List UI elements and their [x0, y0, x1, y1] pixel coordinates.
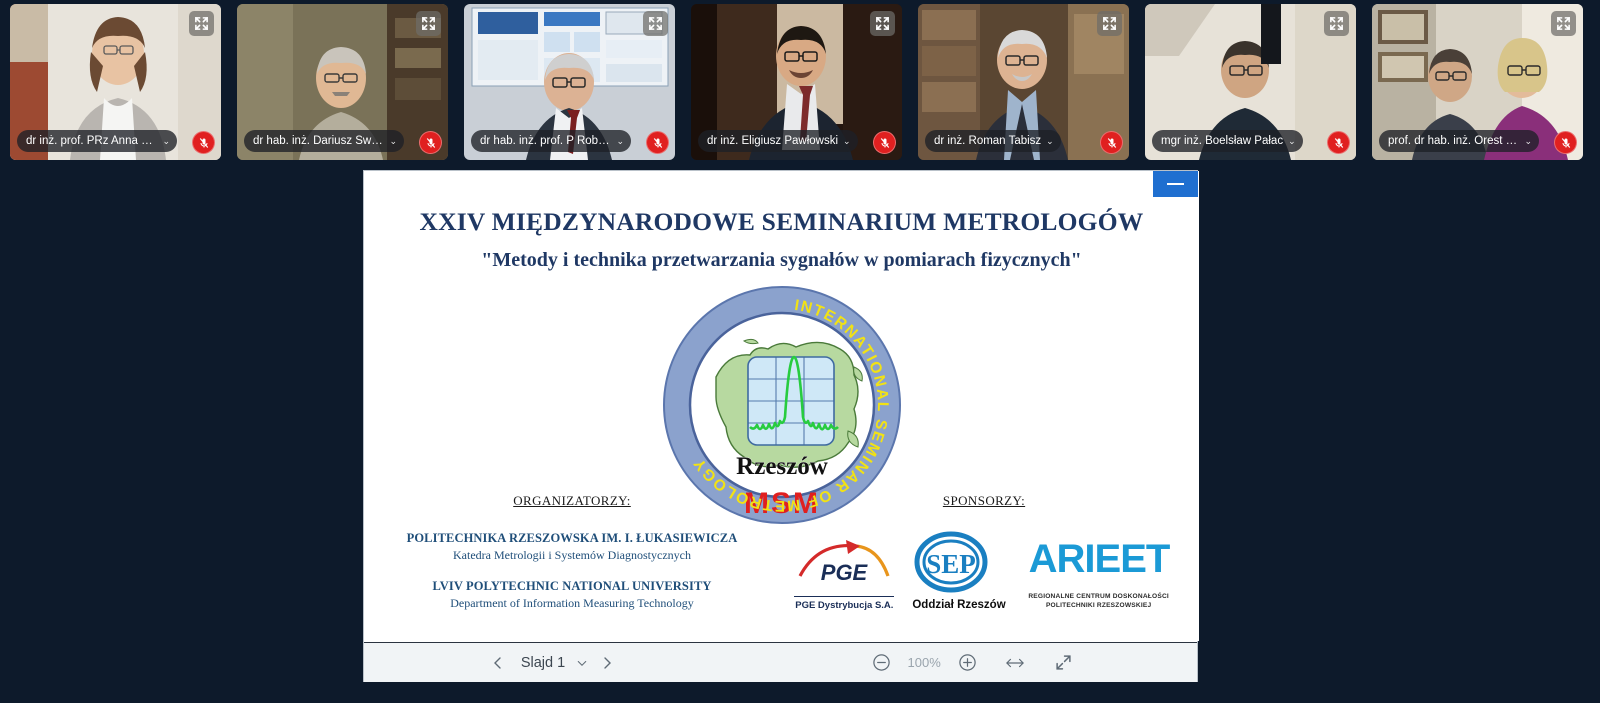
- participant-tile[interactable]: dr inż. Roman Tabisz ⌄: [918, 4, 1129, 160]
- slide-toolbar: Slajd 1 100%: [364, 642, 1197, 682]
- sponsors-heading: SPONSORZY:: [784, 493, 1184, 509]
- slide-canvas[interactable]: XXIV MIĘDZYNARODOWE SEMINARIUM METROLOGÓ…: [364, 171, 1199, 641]
- organizer-dept: Department of Information Measuring Tech…: [392, 596, 752, 611]
- pge-caption: PGE Dystrybucja S.A.: [794, 596, 894, 611]
- participant-name-pill[interactable]: dr hab. inż. Dariusz Świsuls… ⌄: [244, 130, 404, 152]
- expand-icon[interactable]: [189, 11, 214, 36]
- organizer-name: LVIV POLYTECHNIC NATIONAL UNIVERSITY: [392, 579, 752, 594]
- chevron-down-icon[interactable]: ⌄: [1524, 137, 1532, 146]
- mic-muted-icon[interactable]: [1100, 131, 1123, 154]
- participant-tile[interactable]: prof. dr hab. inż. Orest Ivak… ⌄: [1372, 4, 1583, 160]
- ariett-logo: ARIEET REGIONALNE CENTRUM DOSKONAŁOŚCIPO…: [1024, 536, 1174, 611]
- slide-title: XXIV MIĘDZYNARODOWE SEMINARIUM METROLOGÓ…: [364, 207, 1199, 237]
- participant-tile[interactable]: dr inż. Eligiusz Pawłowski ⌄: [691, 4, 902, 160]
- mic-muted-icon[interactable]: [646, 131, 669, 154]
- mic-muted-icon[interactable]: [419, 131, 442, 154]
- sep-caption: Oddział Rzeszów: [912, 599, 1005, 611]
- participant-tile[interactable]: dr hab. inż. prof. P Robert … ⌄: [464, 4, 675, 160]
- slide-number-label: Slajd 1: [517, 655, 569, 671]
- participant-name-pill[interactable]: prof. dr hab. inż. Orest Ivak… ⌄: [1379, 130, 1539, 152]
- fit-width-button[interactable]: [998, 646, 1032, 680]
- msm-emblem: Rzeszów MSM INTERNATIONAL SEMINAR OF MET…: [658, 281, 906, 529]
- chevron-down-icon[interactable]: ⌄: [389, 137, 397, 146]
- sponsors-section: SPONSORZY: PGE PGE Dystrybucja S.A.: [784, 493, 1184, 611]
- participant-name: dr inż. prof. PRz Anna Szlac…: [26, 135, 157, 147]
- expand-icon[interactable]: [1551, 11, 1576, 36]
- chevron-down-icon[interactable]: ⌄: [1288, 137, 1296, 146]
- prev-slide-button[interactable]: [481, 646, 515, 680]
- next-slide-button[interactable]: [590, 646, 624, 680]
- organizers-heading: ORGANIZATORZY:: [392, 493, 752, 509]
- chevron-down-icon[interactable]: ⌄: [843, 137, 851, 146]
- expand-icon[interactable]: [1097, 11, 1122, 36]
- chevron-down-icon: [576, 657, 588, 669]
- participant-name: dr inż. Roman Tabisz: [934, 135, 1041, 147]
- zoom-in-button[interactable]: [950, 646, 984, 680]
- svg-text:ARIEET: ARIEET: [1028, 537, 1169, 581]
- participant-name: mgr inż. Boelsław Pałac: [1161, 135, 1283, 147]
- participant-name: dr inż. Eligiusz Pawłowski: [707, 135, 838, 147]
- participant-name-pill[interactable]: mgr inż. Boelsław Pałac ⌄: [1152, 130, 1303, 152]
- svg-text:PGE: PGE: [821, 560, 869, 585]
- participant-name: prof. dr hab. inż. Orest Ivak…: [1388, 135, 1519, 147]
- participant-name: dr hab. inż. prof. P Robert …: [480, 135, 611, 147]
- presentation-stage: XXIV MIĘDZYNARODOWE SEMINARIUM METROLOGÓ…: [363, 170, 1198, 682]
- minimize-icon: [1167, 183, 1184, 186]
- slide-subtitle: "Metody i technika przetwarzania sygnałó…: [364, 249, 1199, 272]
- expand-icon[interactable]: [870, 11, 895, 36]
- participant-name-pill[interactable]: dr inż. prof. PRz Anna Szlac… ⌄: [17, 130, 177, 152]
- chevron-down-icon[interactable]: ⌄: [162, 137, 170, 146]
- chevron-down-icon[interactable]: ⌄: [616, 137, 624, 146]
- chevron-down-icon[interactable]: ⌄: [1046, 137, 1054, 146]
- pge-logo: PGE PGE Dystrybucja S.A.: [794, 536, 894, 611]
- participant-tile[interactable]: dr hab. inż. Dariusz Świsuls… ⌄: [237, 4, 448, 160]
- participant-name-pill[interactable]: dr hab. inż. prof. P Robert … ⌄: [471, 130, 631, 152]
- zoom-out-button[interactable]: [864, 646, 898, 680]
- mic-muted-icon[interactable]: [1554, 131, 1577, 154]
- mic-muted-icon[interactable]: [192, 131, 215, 154]
- sep-logo: SEP Oddział Rzeszów: [912, 531, 1005, 611]
- participant-name-pill[interactable]: dr inż. Roman Tabisz ⌄: [925, 130, 1061, 152]
- expand-icon[interactable]: [643, 11, 668, 36]
- ariett-caption: REGIONALNE CENTRUM DOSKONAŁOŚCIPOLITECHN…: [1024, 593, 1174, 611]
- organizer-dept: Katedra Metrologii i Systemów Diagnostyc…: [392, 548, 752, 563]
- emblem-city: Rzeszów: [736, 453, 828, 480]
- fullscreen-button[interactable]: [1046, 646, 1080, 680]
- participant-video-strip: dr inż. prof. PRz Anna Szlac… ⌄: [0, 0, 1600, 166]
- slide-selector[interactable]: Slajd 1: [515, 655, 590, 671]
- zoom-level-label: 100%: [898, 655, 950, 670]
- mic-muted-icon[interactable]: [873, 131, 896, 154]
- svg-text:SEP: SEP: [927, 549, 977, 579]
- participant-name-pill[interactable]: dr inż. Eligiusz Pawłowski ⌄: [698, 130, 858, 152]
- minimize-button[interactable]: [1153, 171, 1198, 197]
- participant-name: dr hab. inż. Dariusz Świsuls…: [253, 135, 384, 147]
- organizer-name: POLITECHNIKA RZESZOWSKA IM. I. ŁUKASIEWI…: [392, 531, 752, 546]
- organizers-section: ORGANIZATORZY: POLITECHNIKA RZESZOWSKA I…: [392, 493, 752, 611]
- participant-tile[interactable]: dr inż. prof. PRz Anna Szlac… ⌄: [10, 4, 221, 160]
- expand-icon[interactable]: [416, 11, 441, 36]
- mic-muted-icon[interactable]: [1327, 131, 1350, 154]
- participant-tile[interactable]: mgr inż. Boelsław Pałac ⌄: [1145, 4, 1356, 160]
- expand-icon[interactable]: [1324, 11, 1349, 36]
